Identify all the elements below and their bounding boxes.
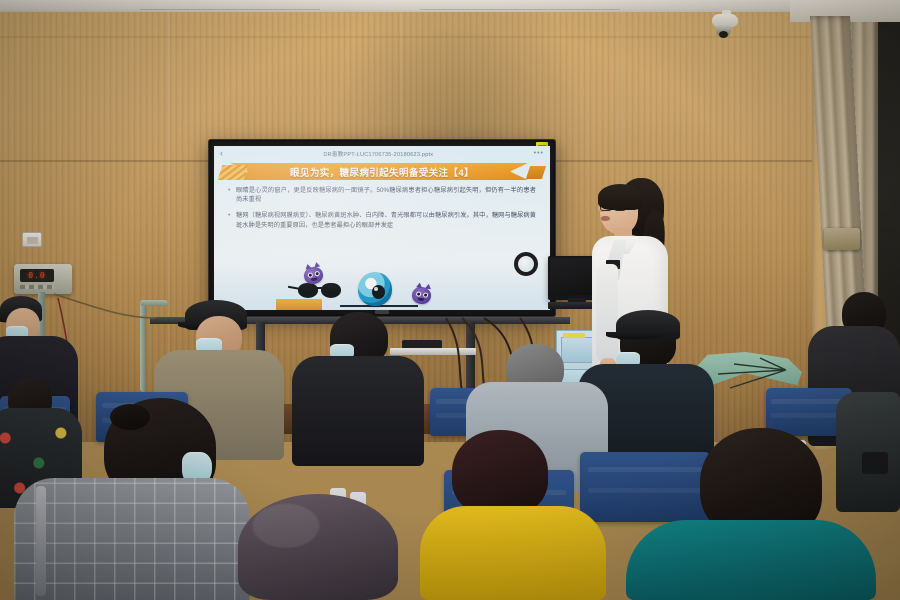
list-item: • 眼睛是心灵的窗户，更是反映糖尿病的一面镜子。50%糖尿病患者担心糖尿病引起失… [228, 186, 536, 204]
bag-strap [36, 486, 46, 596]
pupil-icon [372, 285, 385, 299]
hair-clip [110, 404, 150, 430]
germ-mouth [311, 277, 318, 281]
phone-icon [862, 452, 888, 474]
germ-mouth [417, 297, 424, 301]
ppt-app-bar: ‹ DR患教PPT-LUC1706735-20180623.pptx ••• [214, 146, 550, 161]
body [420, 506, 606, 600]
head [452, 430, 548, 516]
bullet-marker: • [228, 211, 236, 229]
germ-horn [313, 262, 320, 268]
bullet-text: 眼睛是心灵的窗户，更是反映糖尿病的一面镜子。50%糖尿病患者担心糖尿病引起失明，… [236, 186, 536, 204]
lecture-room-photo: 0.0 ‹ DR患教PPT-LUC1706735-20180623.pptx •… [0, 0, 900, 600]
sunglasses-lens-right [321, 283, 341, 298]
germ-horn [416, 282, 423, 288]
curtain-tieback [824, 228, 860, 250]
chair[interactable] [580, 452, 710, 522]
presenter-arm [596, 264, 618, 362]
germ-eye [314, 271, 320, 277]
ring-graphic-icon [514, 252, 538, 276]
display-logo [375, 310, 389, 314]
ceiling-seam [140, 9, 320, 10]
illustration-block [276, 299, 322, 310]
bullet-text: 糖网（糖尿病视网膜病变）、糖尿病黄斑水肿、白内障、青光眼都可以由糖尿病引发。其中… [236, 211, 536, 229]
slide-title-banner: 眼见为实，糖尿病引起失明备受关注【4】 [220, 163, 544, 181]
list-item: • 糖网（糖尿病视网膜病变）、糖尿病黄斑水肿、白内障、青光眼都可以由糖尿病引发。… [228, 211, 536, 229]
presenter-hair-front [598, 184, 642, 210]
more-options-icon[interactable]: ••• [534, 150, 544, 157]
pupil-highlight [374, 287, 378, 291]
head [238, 494, 398, 600]
presentation-screen[interactable]: ‹ DR患教PPT-LUC1706735-20180623.pptx ••• 眼… [214, 146, 550, 310]
body [292, 356, 424, 466]
body [14, 478, 250, 600]
sunglasses-lens-left [298, 283, 318, 298]
scale-readout-screen: 0.0 [20, 269, 54, 282]
sunglasses-bridge [316, 287, 324, 289]
sunglasses-icon [298, 283, 342, 298]
slide-illustration [262, 258, 492, 310]
body [626, 520, 876, 600]
wall-panel-seam [0, 36, 812, 38]
ceiling-seam [420, 9, 620, 10]
digital-scale-display[interactable]: 0.0 [14, 264, 72, 294]
cabinet-label [563, 333, 585, 338]
germ-character-icon [411, 286, 432, 305]
slide-title: 眼见为实，糖尿病引起失明备受关注【4】 [220, 163, 544, 180]
scale-buttons[interactable] [20, 285, 54, 289]
eyeball-icon [358, 272, 392, 306]
ppt-filename: DR患教PPT-LUC1706735-20180623.pptx [223, 150, 534, 158]
germ-horn [305, 263, 312, 269]
slide-body: • 眼睛是心灵的窗户，更是反映糖尿病的一面镜子。50%糖尿病患者担心糖尿病引起失… [228, 186, 536, 237]
camera-lens-icon [719, 31, 728, 38]
presenter-mouth [601, 216, 610, 221]
germ-eye [416, 291, 422, 297]
germ-horn [425, 283, 432, 289]
wall-outlet[interactable] [22, 232, 42, 247]
bullet-marker: • [228, 186, 236, 204]
scale-readout-value: 0.0 [28, 271, 45, 280]
germ-eye [423, 292, 429, 298]
cap-brim [606, 332, 664, 339]
